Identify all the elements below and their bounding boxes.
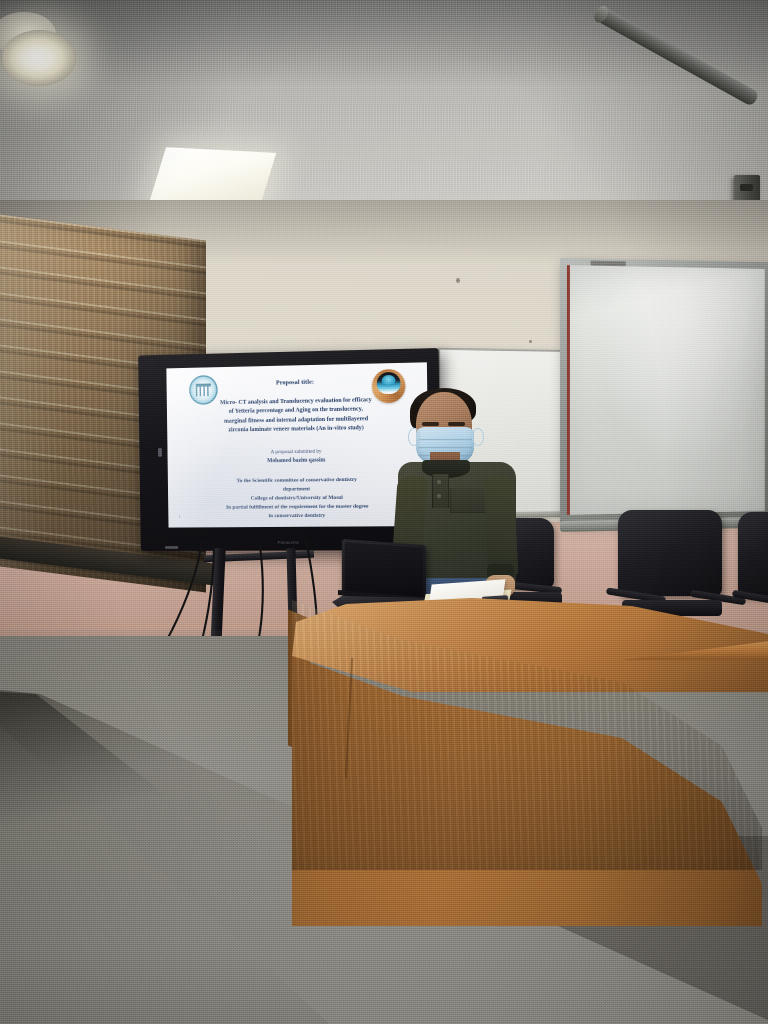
slide-logo-row (174, 368, 420, 407)
mask-pleat (418, 439, 472, 440)
sweater-placket (432, 474, 449, 508)
slide-page-number: 1 (179, 514, 181, 519)
wall-scuff-mark (529, 340, 532, 343)
podium-desk (292, 596, 768, 926)
slide-body-line: in conservative dentistry (185, 511, 411, 521)
sweater-pocket (450, 488, 486, 513)
mask-pleat (418, 447, 472, 448)
wall-scuff-mark (456, 278, 460, 283)
sweater-button (437, 494, 441, 498)
mask-ear-loop (408, 428, 420, 446)
eyebrow (422, 422, 439, 426)
chair-backrest (738, 512, 768, 596)
chair-backrest (618, 510, 722, 596)
mask-ear-loop (472, 428, 484, 446)
laptop-screen (345, 542, 423, 599)
lecture-hall-photo: Proposal title: Micro- CT analysis and T… (0, 0, 768, 1024)
slide-body: To the Scientific committee of conservat… (185, 475, 411, 522)
sweater-button (437, 480, 441, 484)
display-screen: Proposal title: Micro- CT analysis and T… (166, 362, 429, 527)
recessed-downlight-icon (2, 30, 76, 86)
whiteboard-brand-label (591, 261, 626, 267)
whiteboard-large-interactive (560, 258, 768, 522)
display-side-button[interactable] (158, 448, 162, 457)
eyebrow (448, 422, 465, 426)
university-of-mosul-seal-icon (189, 375, 218, 405)
presentation-slide: Proposal title: Micro- CT analysis and T… (166, 362, 429, 527)
whiteboard-large-surface (567, 265, 765, 515)
